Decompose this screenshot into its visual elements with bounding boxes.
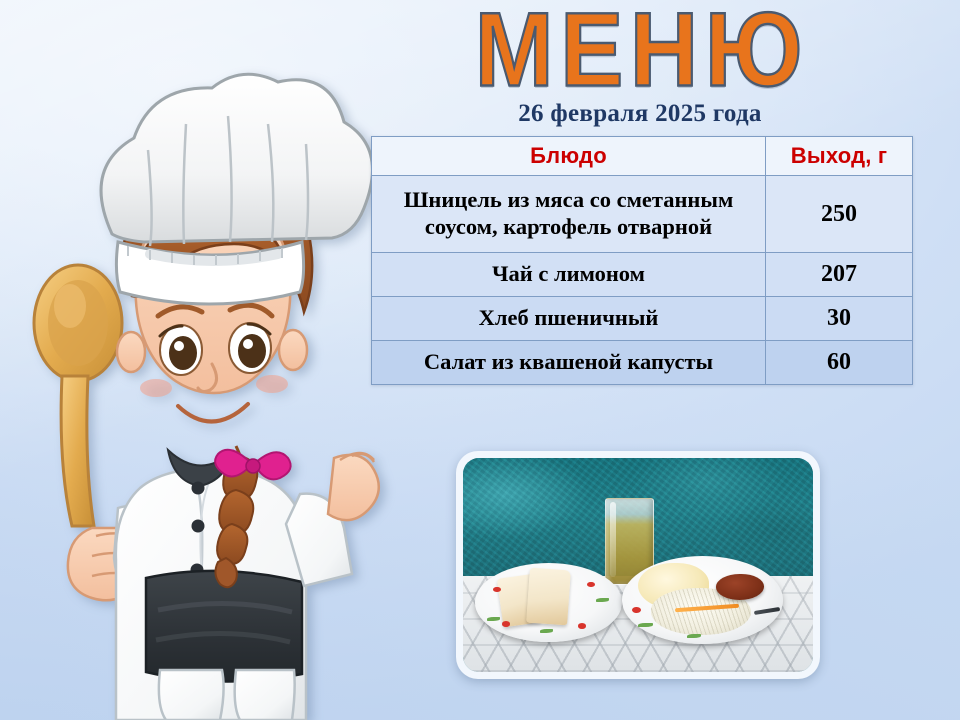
plate-decor-leaf	[638, 623, 652, 627]
table-row: Чай с лимоном 207	[372, 253, 913, 297]
bread-plate	[475, 563, 622, 642]
bread-slice	[526, 568, 571, 626]
cell-dish: Шницель из мяса со сметанным соусом, кар…	[372, 176, 766, 253]
slide-title: МЕНЮ	[352, 2, 932, 98]
chef-hat-icon	[101, 74, 372, 304]
plate-decor-berry	[587, 582, 595, 588]
food-photo-frame	[456, 451, 820, 679]
main-dish-plate	[622, 556, 783, 644]
table-row: Шницель из мяса со сметанным соусом, кар…	[372, 176, 913, 253]
plate-decor-berry	[502, 621, 510, 627]
column-header-dish: Блюдо	[372, 137, 766, 176]
column-header-output: Выход, г	[766, 137, 913, 176]
table-header-row: Блюдо Выход, г	[372, 137, 913, 176]
plate-decor-leaf	[596, 598, 609, 602]
cell-output: 30	[766, 297, 913, 341]
page-title: МЕНЮ	[475, 0, 809, 100]
menu-date: 26 февраля 2025 года	[380, 100, 900, 128]
food-photo	[463, 458, 813, 672]
plate-decor-berry	[632, 607, 641, 613]
table-row: Хлеб пшеничный 30	[372, 297, 913, 341]
cell-output: 60	[766, 341, 913, 385]
plate-decor-leaf	[540, 629, 553, 633]
meat-schnitzel	[716, 574, 764, 600]
chef-illustration	[0, 58, 400, 720]
plate-decor-berry	[578, 623, 586, 629]
cell-dish: Салат из квашеной капусты	[372, 341, 766, 385]
menu-table: Блюдо Выход, г Шницель из мяса со сметан…	[371, 136, 913, 385]
plate-decor-leaf	[487, 617, 500, 621]
cell-dish: Хлеб пшеничный	[372, 297, 766, 341]
plate-decor-berry	[493, 587, 501, 593]
menu-slide: МЕНЮ 26 февраля 2025 года Блюдо Выход, г…	[0, 0, 960, 720]
cell-dish: Чай с лимоном	[372, 253, 766, 297]
plate-decor-leaf	[687, 634, 701, 638]
table-row: Салат из квашеной капусты 60	[372, 341, 913, 385]
wooden-spoon-icon	[34, 265, 122, 526]
fork	[754, 607, 780, 614]
cell-output: 207	[766, 253, 913, 297]
cell-output: 250	[766, 176, 913, 253]
